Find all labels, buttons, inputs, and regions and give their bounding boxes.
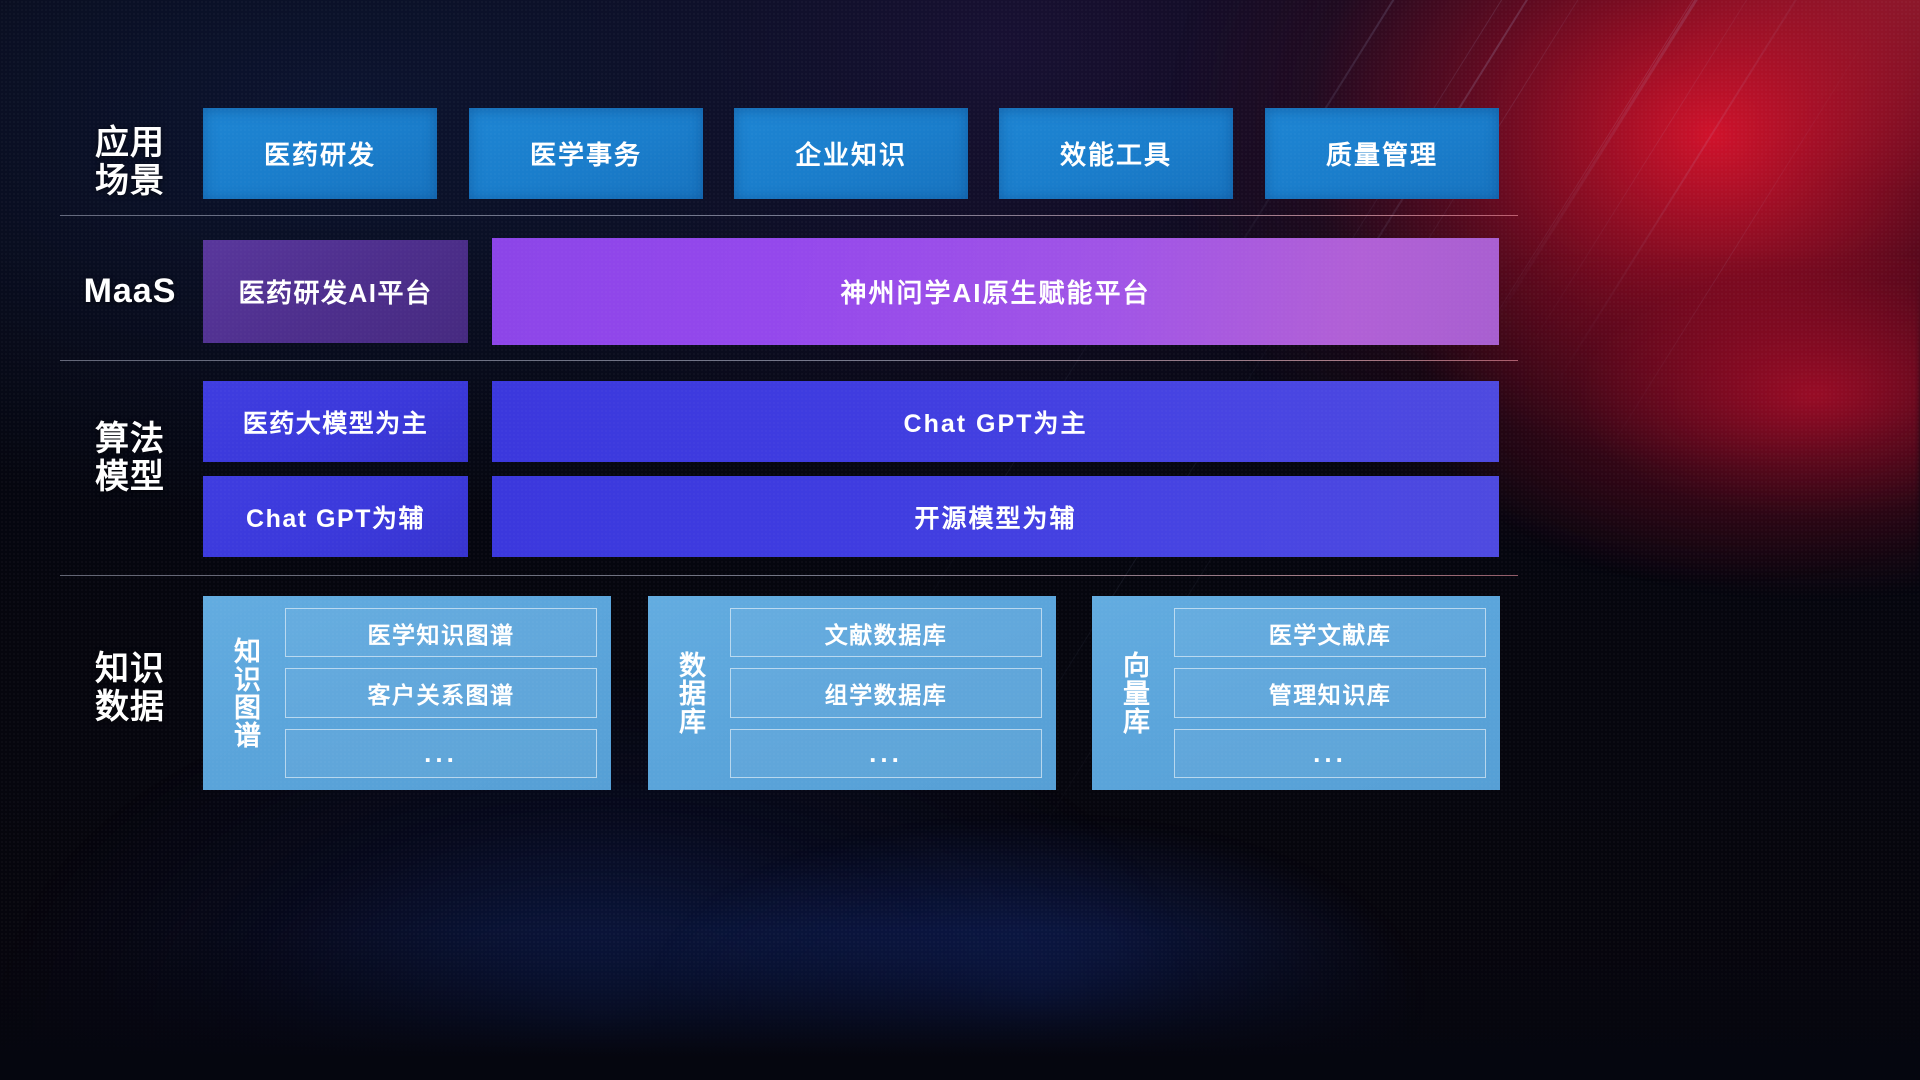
- knowledge-card-items: 医学文献库 管理知识库 ...: [1174, 608, 1486, 778]
- app-tile-label: 质量管理: [1326, 135, 1438, 172]
- knowledge-item[interactable]: 医学知识图谱: [285, 608, 597, 657]
- knowledge-item-more[interactable]: ...: [730, 729, 1042, 778]
- app-tile-label: 医学事务: [530, 135, 642, 172]
- app-tile-label: 效能工具: [1060, 135, 1172, 172]
- algorithm-left-primary[interactable]: 医药大模型为主: [203, 381, 468, 462]
- knowledge-item[interactable]: 管理知识库: [1174, 668, 1486, 717]
- knowledge-item-more[interactable]: ...: [1174, 729, 1486, 778]
- algorithm-right-secondary-label: 开源模型为辅: [914, 499, 1076, 535]
- maas-platform-left[interactable]: 医药研发AI平台: [203, 240, 468, 343]
- app-tile-2[interactable]: 企业知识: [734, 108, 968, 199]
- knowledge-card-items: 文献数据库 组学数据库 ...: [730, 608, 1042, 778]
- knowledge-item[interactable]: 组学数据库: [730, 668, 1042, 717]
- knowledge-card-title: 知识图谱: [213, 608, 275, 778]
- maas-platform-right-label: 神州问学AI原生赋能平台: [840, 273, 1150, 310]
- algorithm-right-primary[interactable]: Chat GPT为主: [492, 381, 1499, 462]
- knowledge-card-2[interactable]: 向量库 医学文献库 管理知识库 ...: [1092, 596, 1500, 790]
- architecture-diagram: 应用 场景 医药研发 医学事务 企业知识 效能工具 质量管理 MaaS 医药研发…: [0, 0, 1920, 1080]
- knowledge-card-title: 向量库: [1102, 608, 1164, 778]
- algorithm-left-secondary-label: Chat GPT为辅: [246, 499, 425, 535]
- algorithm-right-secondary[interactable]: 开源模型为辅: [492, 476, 1499, 557]
- algorithm-left-secondary[interactable]: Chat GPT为辅: [203, 476, 468, 557]
- algorithm-right-primary-label: Chat GPT为主: [904, 404, 1088, 440]
- divider-algorithm-knowledge: [60, 575, 1518, 576]
- maas-platform-left-label: 医药研发AI平台: [238, 273, 432, 310]
- knowledge-item[interactable]: 文献数据库: [730, 608, 1042, 657]
- knowledge-card-0[interactable]: 知识图谱 医学知识图谱 客户关系图谱 ...: [203, 596, 611, 790]
- row-label-application: 应用 场景: [70, 124, 190, 200]
- row-label-maas: MaaS: [70, 272, 190, 310]
- app-tile-3[interactable]: 效能工具: [999, 108, 1233, 199]
- app-tile-label: 企业知识: [795, 135, 907, 172]
- app-tile-label: 医药研发: [264, 135, 376, 172]
- knowledge-item[interactable]: 医学文献库: [1174, 608, 1486, 657]
- knowledge-item-more[interactable]: ...: [285, 729, 597, 778]
- divider-maas-algorithm: [60, 360, 1518, 361]
- divider-application-maas: [60, 215, 1518, 216]
- app-tile-1[interactable]: 医学事务: [469, 108, 703, 199]
- app-tile-0[interactable]: 医药研发: [203, 108, 437, 199]
- maas-platform-right[interactable]: 神州问学AI原生赋能平台: [492, 238, 1499, 345]
- algorithm-left-primary-label: 医药大模型为主: [243, 404, 429, 440]
- app-tile-4[interactable]: 质量管理: [1265, 108, 1499, 199]
- row-label-knowledge: 知识 数据: [70, 650, 190, 726]
- knowledge-item[interactable]: 客户关系图谱: [285, 668, 597, 717]
- knowledge-card-title: 数据库: [658, 608, 720, 778]
- knowledge-card-1[interactable]: 数据库 文献数据库 组学数据库 ...: [648, 596, 1056, 790]
- knowledge-card-items: 医学知识图谱 客户关系图谱 ...: [285, 608, 597, 778]
- row-label-algorithm: 算法 模型: [70, 420, 190, 496]
